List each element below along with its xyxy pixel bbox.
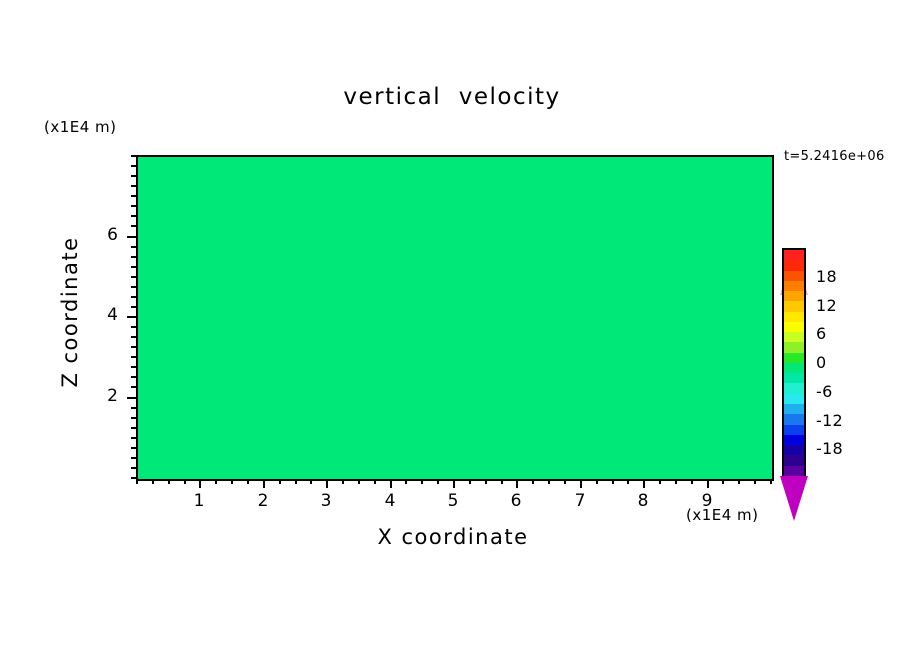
y-minor-tick: [131, 165, 136, 167]
x-minor-tick: [247, 479, 249, 484]
x-major-tick: [580, 479, 582, 488]
y-minor-tick: [131, 286, 136, 288]
y-minor-tick: [131, 346, 136, 348]
x-minor-tick: [437, 479, 439, 484]
y-major-tick: [127, 316, 136, 318]
y-minor-tick: [131, 386, 136, 388]
y-major-tick: [127, 397, 136, 399]
x-tick-label: 1: [179, 491, 219, 511]
y-minor-tick: [131, 467, 136, 469]
y-tick-label: 4: [78, 305, 118, 325]
colorbar-tick-label: -18: [816, 439, 843, 458]
x-minor-tick: [374, 479, 376, 484]
x-minor-tick: [310, 479, 312, 484]
x-minor-tick: [754, 479, 756, 484]
x-tick-label: 7: [560, 491, 600, 511]
x-major-tick: [199, 479, 201, 488]
colorbar-band: [784, 271, 804, 281]
chart-title: vertical velocity: [0, 84, 904, 110]
x-minor-tick: [738, 479, 740, 484]
colorbar-band: [784, 455, 804, 465]
x-tick-label: 3: [306, 491, 346, 511]
x-minor-tick: [184, 479, 186, 484]
y-minor-tick: [131, 246, 136, 248]
y-minor-tick: [131, 407, 136, 409]
colorbar-band: [784, 301, 804, 311]
x-minor-tick: [469, 479, 471, 484]
y-minor-tick: [131, 417, 136, 419]
x-minor-tick: [485, 479, 487, 484]
colorbar-band: [784, 363, 804, 373]
x-major-tick: [707, 479, 709, 488]
colorbar-tick-label: 18: [816, 267, 837, 286]
x-major-tick: [263, 479, 265, 488]
colorbar-tick-label: 0: [816, 353, 826, 372]
colorbar-band: [784, 342, 804, 352]
x-major-tick: [326, 479, 328, 488]
y-tick-label: 2: [78, 386, 118, 406]
y-minor-tick: [131, 427, 136, 429]
x-minor-tick: [358, 479, 360, 484]
x-axis-unit-label: (x1E4 m): [686, 506, 759, 524]
x-minor-tick: [532, 479, 534, 484]
y-minor-tick: [131, 326, 136, 328]
x-tick-label: 2: [243, 491, 283, 511]
x-minor-tick: [136, 479, 138, 484]
x-minor-tick: [342, 479, 344, 484]
colorbar-band: [784, 291, 804, 301]
x-major-tick: [453, 479, 455, 488]
y-minor-tick: [131, 175, 136, 177]
colorbar-band: [784, 353, 804, 363]
x-major-tick: [390, 479, 392, 488]
y-minor-tick: [131, 447, 136, 449]
x-minor-tick: [231, 479, 233, 484]
y-minor-tick: [131, 366, 136, 368]
x-minor-tick: [596, 479, 598, 484]
x-minor-tick: [691, 479, 693, 484]
colorbar-band: [784, 281, 804, 291]
colorbar-band: [784, 394, 804, 404]
y-minor-tick: [131, 256, 136, 258]
x-minor-tick: [612, 479, 614, 484]
x-minor-tick: [152, 479, 154, 484]
x-minor-tick: [659, 479, 661, 484]
x-minor-tick: [675, 479, 677, 484]
y-minor-tick: [131, 195, 136, 197]
y-minor-tick: [131, 356, 136, 358]
colorbar-band: [784, 383, 804, 393]
x-major-tick: [643, 479, 645, 488]
y-major-tick: [127, 236, 136, 238]
colorbar-band: [784, 414, 804, 424]
y-minor-tick: [131, 376, 136, 378]
x-axis-title: X coordinate: [136, 525, 770, 549]
colorbar-band: [784, 332, 804, 342]
x-minor-tick: [279, 479, 281, 484]
y-minor-tick: [131, 225, 136, 227]
colorbar-tick-label: -12: [816, 411, 843, 430]
colorbar-band: [784, 404, 804, 414]
x-tick-label: 6: [496, 491, 536, 511]
colorbar-tick-label: 6: [816, 324, 826, 343]
vertical-velocity-heatmap: [138, 157, 772, 479]
colorbar-band: [784, 322, 804, 332]
y-minor-tick: [131, 336, 136, 338]
y-minor-tick: [131, 296, 136, 298]
x-minor-tick: [548, 479, 550, 484]
x-minor-tick: [215, 479, 217, 484]
y-minor-tick: [131, 215, 136, 217]
colorbar-band: [784, 260, 804, 270]
y-axis-unit-label: (x1E4 m): [44, 118, 117, 136]
x-minor-tick: [295, 479, 297, 484]
time-annotation: t=5.2416e+06: [784, 149, 885, 164]
x-minor-tick: [501, 479, 503, 484]
colorbar-gradient: [782, 248, 806, 478]
colorbar-band: [784, 425, 804, 435]
colorbar-band: [784, 435, 804, 445]
x-tick-label: 8: [623, 491, 663, 511]
x-minor-tick: [722, 479, 724, 484]
y-minor-tick: [131, 266, 136, 268]
x-minor-tick: [564, 479, 566, 484]
plot-area: [136, 155, 774, 481]
y-minor-tick: [131, 155, 136, 157]
y-minor-tick: [131, 477, 136, 479]
x-major-tick: [516, 479, 518, 488]
x-minor-tick: [770, 479, 772, 484]
colorbar-under-arrow: [780, 476, 808, 566]
y-minor-tick: [131, 457, 136, 459]
x-minor-tick: [421, 479, 423, 484]
y-minor-tick: [131, 306, 136, 308]
x-minor-tick: [405, 479, 407, 484]
colorbar-band: [784, 445, 804, 455]
colorbar-band: [784, 312, 804, 322]
y-minor-tick: [131, 205, 136, 207]
x-minor-tick: [168, 479, 170, 484]
x-tick-label: 5: [433, 491, 473, 511]
y-minor-tick: [131, 437, 136, 439]
y-tick-label: 6: [78, 225, 118, 245]
colorbar-tick-label: -6: [816, 382, 833, 401]
y-minor-tick: [131, 276, 136, 278]
colorbar-tick-label: 12: [816, 296, 837, 315]
colorbar-band: [784, 250, 804, 260]
y-minor-tick: [131, 185, 136, 187]
colorbar-band: [784, 373, 804, 383]
x-tick-label: 4: [370, 491, 410, 511]
x-minor-tick: [627, 479, 629, 484]
colorbar-band: [784, 466, 804, 476]
figure-canvas: vertical velocity (x1E4 m) t=5.2416e+06 …: [0, 0, 904, 654]
